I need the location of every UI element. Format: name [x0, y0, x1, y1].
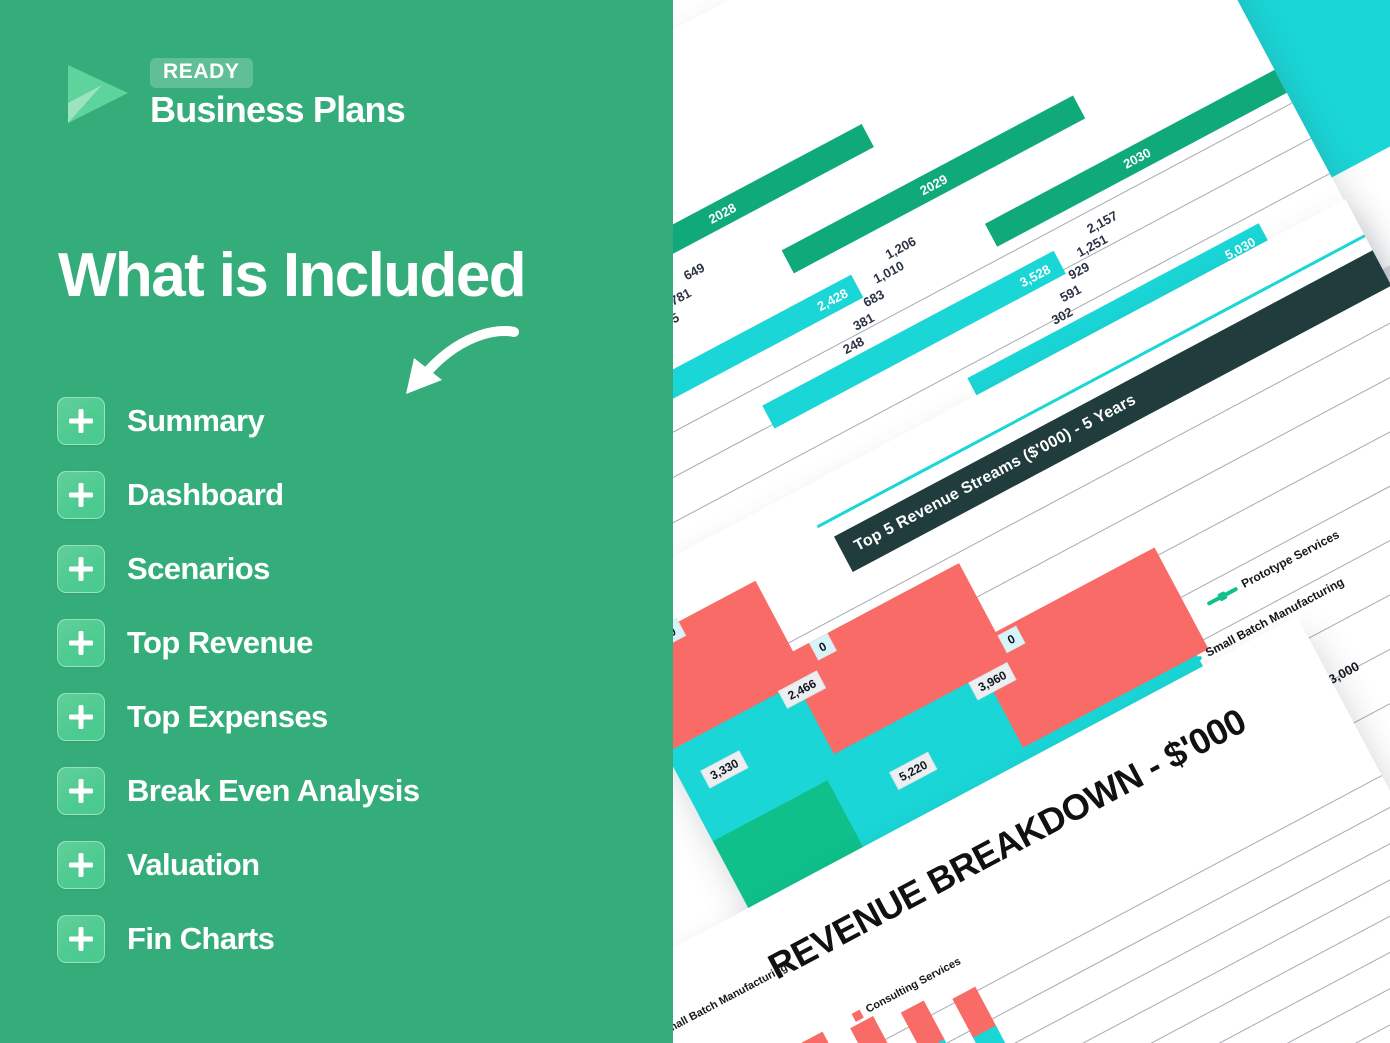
feature-item-dashboard[interactable]: Dashboard — [57, 458, 637, 532]
feature-label: Valuation — [127, 847, 259, 883]
feature-label: Dashboard — [127, 477, 284, 513]
plus-icon — [57, 471, 105, 519]
feature-label: Summary — [127, 403, 264, 439]
plus-icon — [57, 767, 105, 815]
feature-label: Scenarios — [127, 551, 270, 587]
ready-badge: READY — [150, 58, 253, 88]
feature-list: Summary Dashboard Scenarios Top Revenue … — [57, 384, 637, 976]
brand-text: READY Business Plans — [150, 58, 405, 130]
feature-item-summary[interactable]: Summary — [57, 384, 637, 458]
plus-icon — [57, 397, 105, 445]
feature-item-valuation[interactable]: Valuation — [57, 828, 637, 902]
plus-icon — [57, 915, 105, 963]
plus-icon — [57, 545, 105, 593]
plus-icon — [57, 841, 105, 889]
feature-item-scenarios[interactable]: Scenarios — [57, 532, 637, 606]
feature-label: Break Even Analysis — [127, 773, 419, 809]
brand-lockup[interactable]: READY Business Plans — [62, 58, 405, 130]
feature-label: Fin Charts — [127, 921, 274, 957]
plus-icon — [57, 619, 105, 667]
feature-item-top-expenses[interactable]: Top Expenses — [57, 680, 637, 754]
feature-label: Top Expenses — [127, 699, 328, 735]
brand-name: Business Plans — [150, 90, 405, 130]
page-title: What is Included — [58, 243, 525, 308]
plus-icon — [57, 693, 105, 741]
promo-graphic: Name Table of Contents 128.9 2028 2029 2… — [0, 0, 1390, 1043]
feature-item-fin-charts[interactable]: Fin Charts — [57, 902, 637, 976]
play-triangle-icon — [62, 59, 134, 129]
feature-item-top-revenue[interactable]: Top Revenue — [57, 606, 637, 680]
feature-item-break-even-analysis[interactable]: Break Even Analysis — [57, 754, 637, 828]
left-panel: READY Business Plans What is Included Su… — [0, 0, 673, 1043]
feature-label: Top Revenue — [127, 625, 313, 661]
